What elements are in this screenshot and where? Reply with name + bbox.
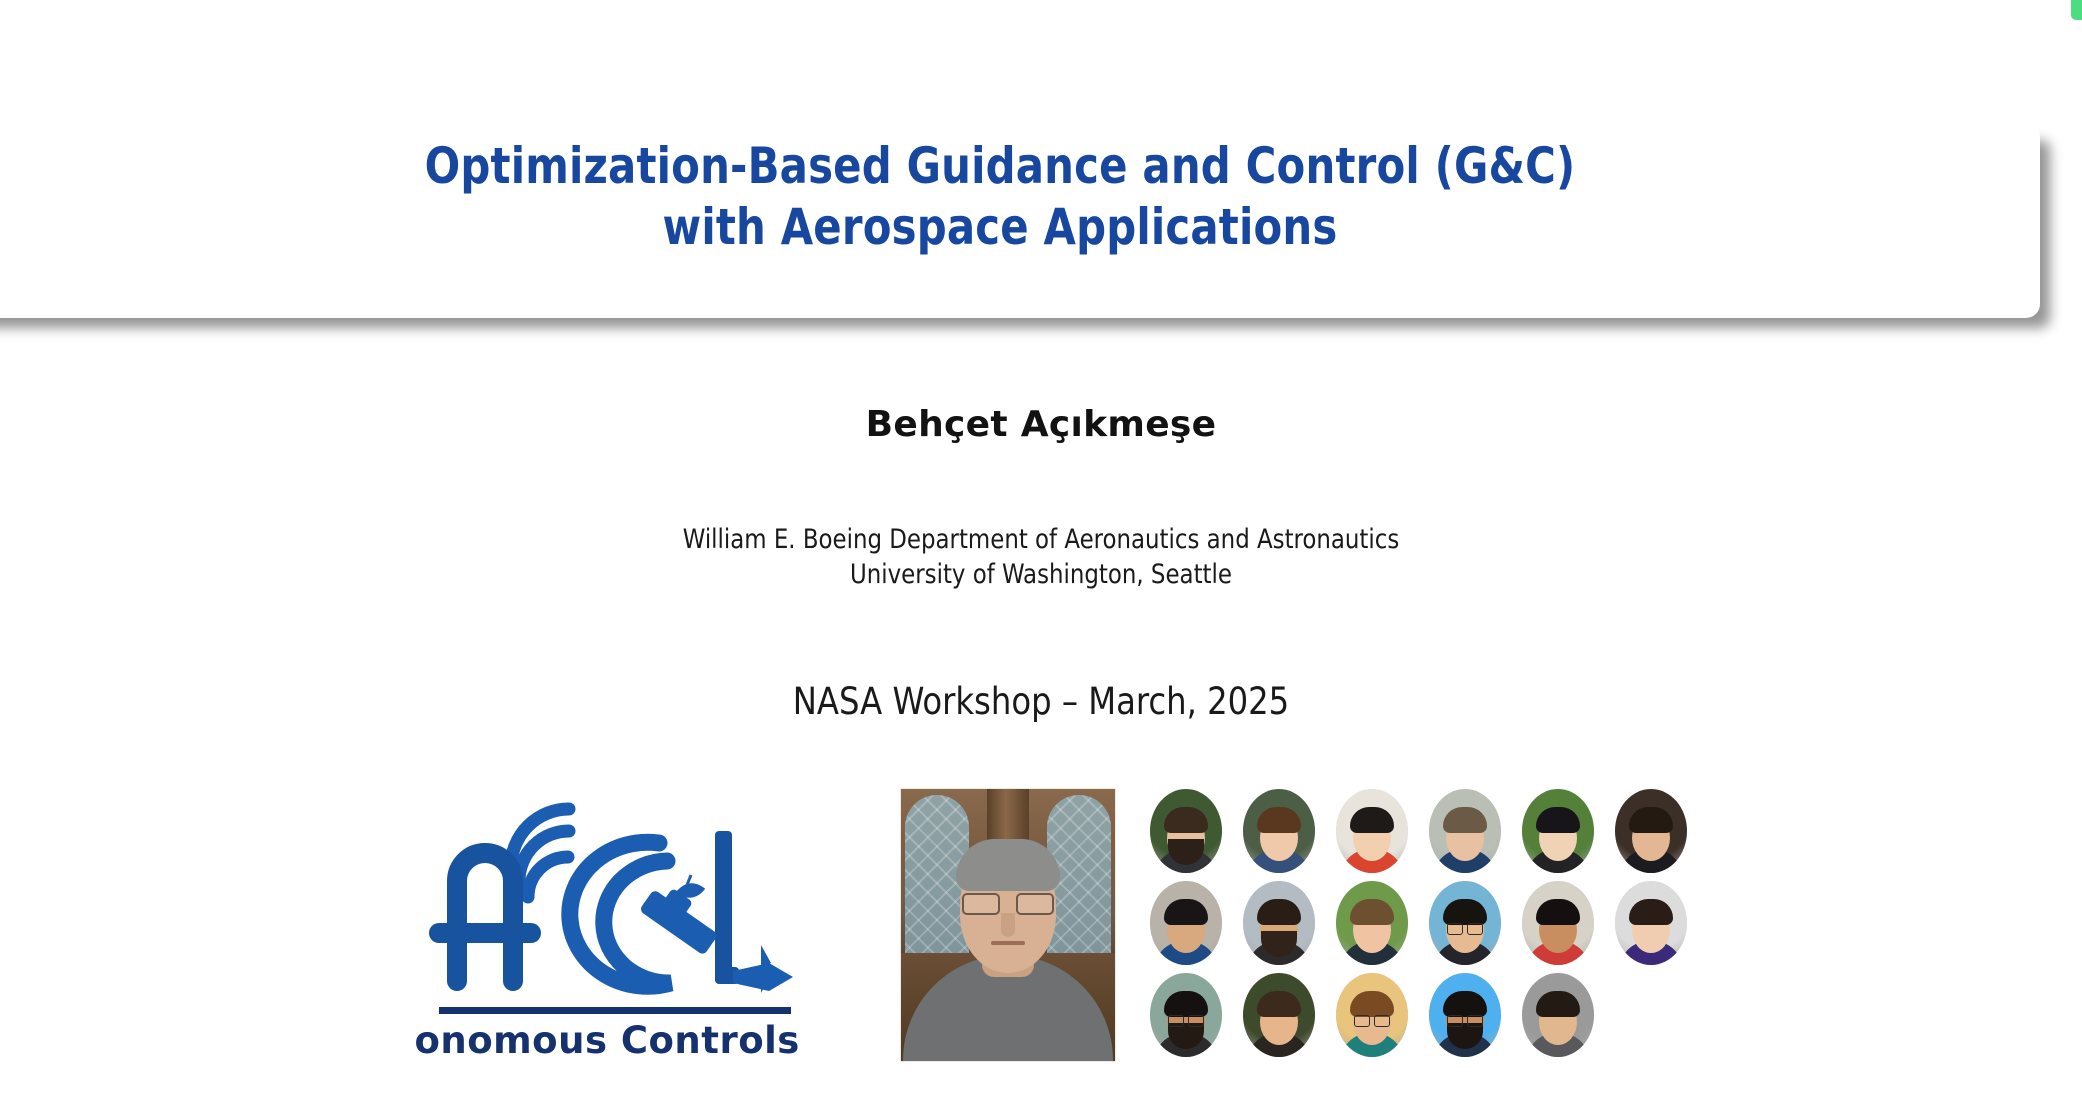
- avatar-3: [1336, 789, 1408, 873]
- avatar-2: [1243, 789, 1315, 873]
- affiliation-line-2: University of Washington, Seattle: [42, 557, 2041, 592]
- avatar-hair: [1257, 991, 1301, 1017]
- avatar-cell: [1512, 785, 1604, 877]
- corner-marker-icon: [2071, 0, 2082, 20]
- avatar-cell: [1326, 877, 1418, 969]
- avatar-cell: [1233, 877, 1325, 969]
- avatar-hair: [1536, 899, 1580, 925]
- avatar-hair: [1164, 807, 1208, 833]
- title-line-2: with Aerospace Applications: [33, 197, 1967, 258]
- avatar-hair: [1257, 807, 1301, 833]
- avatar-cell-empty: [1605, 969, 1697, 1061]
- presentation-slide: Optimization-Based Guidance and Control …: [0, 0, 2082, 1093]
- avatar-glasses-icon: [1447, 923, 1483, 933]
- avatar-14: [1243, 973, 1315, 1057]
- speaker-portrait: [900, 788, 1116, 1062]
- avatar-hair: [1257, 899, 1301, 925]
- avatar-cell: [1233, 969, 1325, 1061]
- avatar-hair: [1629, 899, 1673, 925]
- avatar-13: [1150, 973, 1222, 1057]
- avatar-cell: [1140, 877, 1232, 969]
- avatar-hair: [1164, 899, 1208, 925]
- satellite: [641, 875, 716, 954]
- avatar-cell: [1326, 969, 1418, 1061]
- avatar-cell: [1233, 785, 1325, 877]
- avatar-hair: [1536, 807, 1580, 833]
- avatar-glasses-icon: [1168, 1015, 1204, 1025]
- title-panel: Optimization-Based Guidance and Control …: [0, 122, 2040, 318]
- rocket: [733, 945, 793, 993]
- avatar-cell: [1605, 877, 1697, 969]
- media-row: Autonomous Controls Lab: [0, 775, 2082, 1093]
- author-name: Behçet Açıkmeşe: [0, 404, 2082, 445]
- letter-l: [715, 831, 739, 984]
- avatar-8: [1243, 881, 1315, 965]
- avatar-5: [1522, 789, 1594, 873]
- avatar-cell: [1140, 969, 1232, 1061]
- logo-tagline: Autonomous Controls Lab: [415, 1019, 815, 1062]
- avatar-16: [1429, 973, 1501, 1057]
- event-label: NASA Workshop – March, 2025: [31, 680, 2051, 723]
- acl-logo: Autonomous Controls Lab: [415, 785, 815, 1085]
- signal-wave-3: [528, 857, 568, 897]
- page-title: Optimization-Based Guidance and Control …: [33, 136, 1967, 258]
- avatar-hair: [1443, 899, 1487, 925]
- avatar-10: [1429, 881, 1501, 965]
- avatar-1: [1150, 789, 1222, 873]
- portrait-glasses: [962, 893, 1054, 911]
- avatar-glasses-icon: [1447, 1015, 1483, 1025]
- avatar-cell: [1419, 969, 1511, 1061]
- avatar-glasses-icon: [1354, 1015, 1390, 1025]
- portrait-mouth: [991, 941, 1025, 945]
- avatar-7: [1150, 881, 1222, 965]
- affiliation-line-1: William E. Boeing Department of Aeronaut…: [42, 522, 2041, 557]
- avatar-15: [1336, 973, 1408, 1057]
- avatar-cell: [1419, 785, 1511, 877]
- avatar-hair: [1350, 991, 1394, 1017]
- avatar-4: [1429, 789, 1501, 873]
- avatar-cell: [1326, 785, 1418, 877]
- portrait-nose: [1001, 913, 1015, 937]
- avatar-6: [1615, 789, 1687, 873]
- avatar-hair: [1164, 991, 1208, 1017]
- avatar-cell: [1419, 877, 1511, 969]
- avatar-hair: [1629, 807, 1673, 833]
- avatar-hair: [1443, 807, 1487, 833]
- avatar-11: [1522, 881, 1594, 965]
- title-line-1: Optimization-Based Guidance and Control …: [33, 136, 1967, 197]
- avatar-12: [1615, 881, 1687, 965]
- avatar-9: [1336, 881, 1408, 965]
- portrait-hair: [956, 839, 1060, 891]
- logo-underline: [439, 1007, 791, 1014]
- team-avatar-grid: [1140, 785, 1700, 1061]
- avatar-hair: [1443, 991, 1487, 1017]
- avatar-cell: [1512, 877, 1604, 969]
- avatar-cell: [1512, 969, 1604, 1061]
- avatar-17: [1522, 973, 1594, 1057]
- avatar-hair: [1350, 899, 1394, 925]
- avatar-hair: [1350, 807, 1394, 833]
- avatar-cell: [1605, 785, 1697, 877]
- avatar-cell: [1140, 785, 1232, 877]
- affiliation: William E. Boeing Department of Aeronaut…: [42, 522, 2041, 592]
- letter-a: [439, 853, 531, 981]
- avatar-hair: [1536, 991, 1580, 1017]
